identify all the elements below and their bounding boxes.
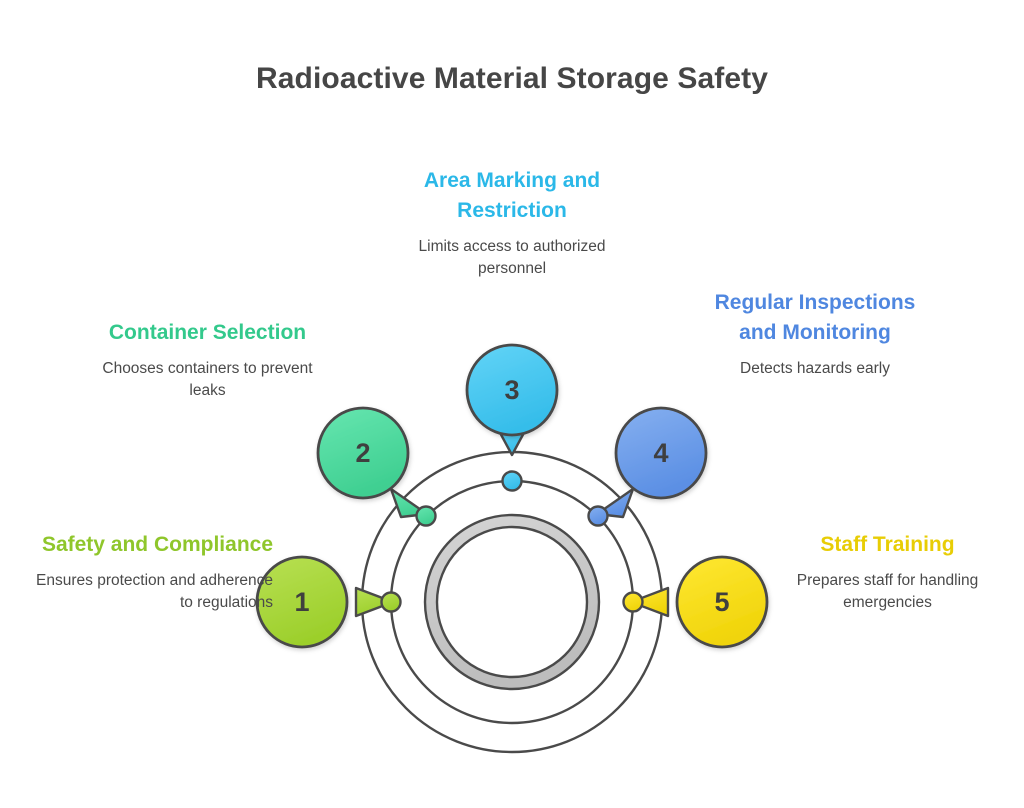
step-5-group[interactable] (624, 557, 768, 647)
step-2-bubble[interactable] (318, 408, 408, 498)
step-5-marker-dot[interactable] (624, 593, 643, 612)
step-5-heading: Staff Training (775, 530, 1000, 560)
step-5-description: Prepares staff for handling emergencies (775, 570, 1000, 614)
step-3-text-block: Area Marking and Restriction Limits acce… (397, 166, 627, 280)
step-3-bubble[interactable] (467, 345, 557, 435)
step-1-group[interactable] (257, 557, 401, 647)
step-4-group[interactable] (589, 408, 707, 526)
step-2-group[interactable] (318, 408, 436, 526)
step-3-heading: Area Marking and Restriction (397, 166, 627, 226)
step-3-marker-dot[interactable] (503, 472, 522, 491)
step-3-group[interactable] (467, 345, 557, 491)
step-4-marker-dot[interactable] (589, 507, 608, 526)
step-2-description: Chooses containers to prevent leaks (95, 358, 320, 402)
step-2-text-block: Container Selection Chooses containers t… (95, 318, 320, 402)
step-3-description: Limits access to authorized personnel (397, 236, 627, 280)
infographic-canvas: Radioactive Material Storage Safety (0, 0, 1024, 808)
step-4-bubble[interactable] (616, 408, 706, 498)
core-ring-inner-edge (437, 527, 587, 677)
step-4-text-block: Regular Inspections and Monitoring Detec… (700, 288, 930, 380)
step-2-heading: Container Selection (95, 318, 320, 348)
step-1-marker-dot[interactable] (382, 593, 401, 612)
step-1-description: Ensures protection and adherence to regu… (28, 570, 273, 614)
outer-ring (362, 452, 662, 752)
step-2-marker-dot[interactable] (417, 507, 436, 526)
core-ring-fill (431, 521, 593, 683)
step-5-text-block: Staff Training Prepares staff for handli… (775, 530, 1000, 614)
step-1-text-block: Safety and Compliance Ensures protection… (28, 530, 273, 614)
circular-steps-diagram (0, 0, 1024, 808)
step-4-description: Detects hazards early (700, 358, 930, 380)
core-ring-outer-edge (425, 515, 599, 689)
step-1-heading: Safety and Compliance (28, 530, 273, 560)
step-4-heading: Regular Inspections and Monitoring (700, 288, 930, 348)
step-5-bubble[interactable] (677, 557, 767, 647)
